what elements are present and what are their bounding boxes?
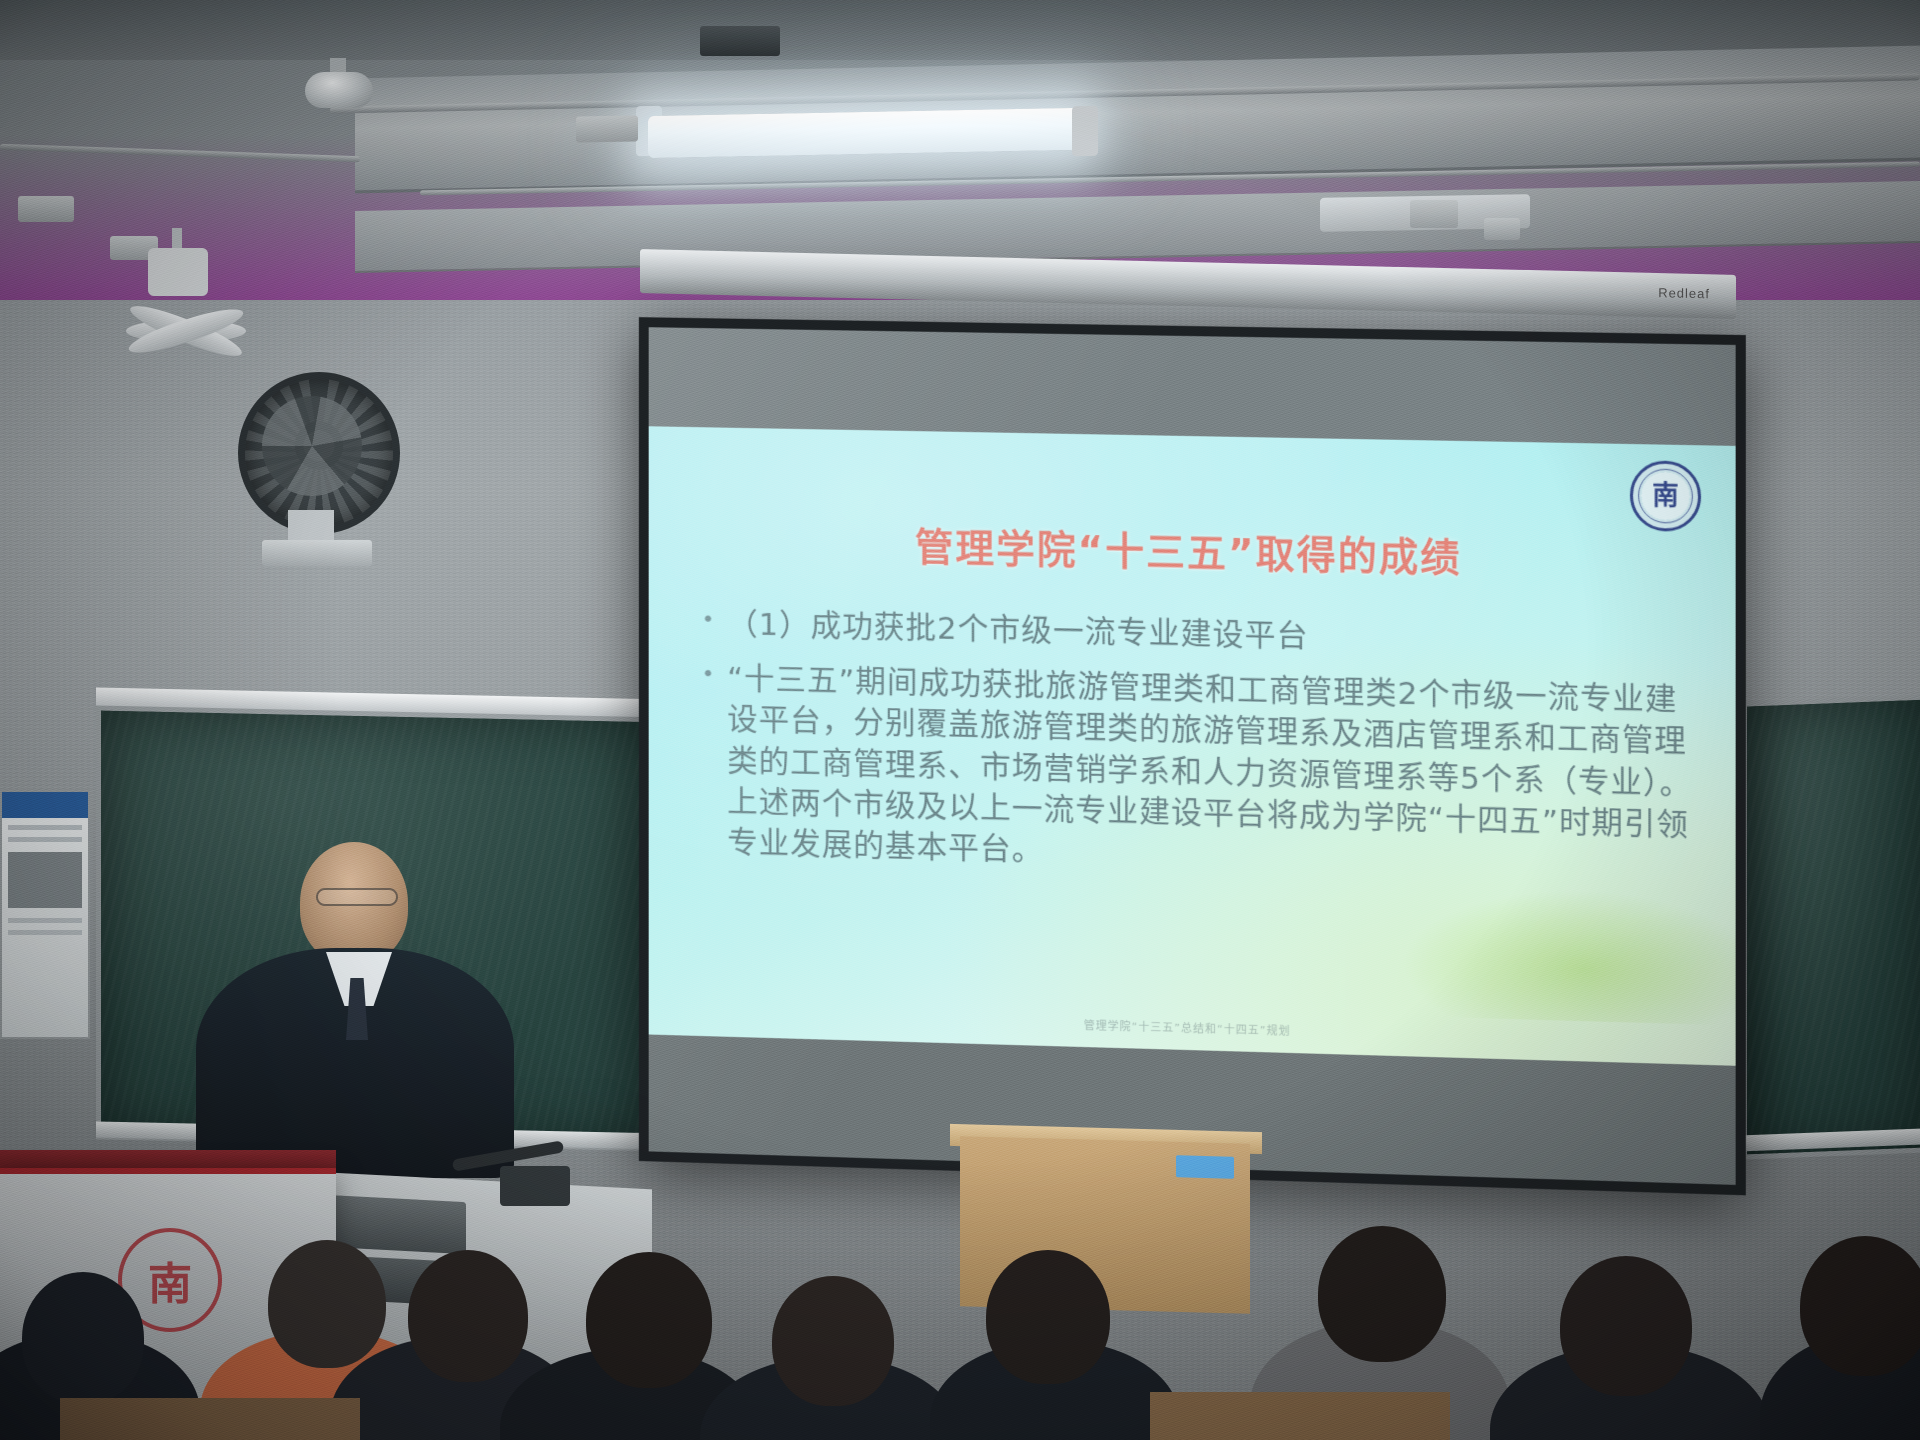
logo-ring xyxy=(1638,468,1693,523)
wall-fan-blades xyxy=(262,396,362,496)
presenter-glasses-icon xyxy=(316,888,398,906)
screen-brand-label: Redleaf xyxy=(1658,285,1710,301)
wall-junction-box xyxy=(1410,200,1458,228)
light-end-cap-right xyxy=(1072,106,1098,156)
university-logo-icon: 南 xyxy=(1630,460,1701,532)
audience-head xyxy=(1318,1226,1446,1362)
poster-line xyxy=(8,918,82,923)
audience-head xyxy=(1800,1236,1920,1376)
slide-decorative-blob xyxy=(1402,886,1736,1027)
slide-body: • （1）成功获批2个市级一流专业建设平台 • “十三五”期间成功获批旅游管理类… xyxy=(702,604,1695,889)
fluorescent-tube-light xyxy=(648,108,1078,158)
poster-header xyxy=(2,792,88,818)
slide-bullet-2-text: “十三五”期间成功获批旅游管理类和工商管理类2个市级一流专业建设平台，分别覆盖旅… xyxy=(727,659,1695,888)
wall-junction-box-2 xyxy=(1484,218,1520,240)
classroom-photo: Redleaf 南 管理学院“十三五”取得的成绩 • （1）成功获批2个市级一流… xyxy=(0,0,1920,1440)
slide-title: 管理学院“十三五”取得的成绩 xyxy=(649,511,1736,589)
seat-back xyxy=(1150,1392,1450,1440)
screen-letterbox-top xyxy=(649,327,1736,446)
slide-bullet-2: • “十三五”期间成功获批旅游管理类和工商管理类2个市级一流专业建设平台，分别覆… xyxy=(702,658,1695,888)
audience-head xyxy=(22,1272,144,1404)
dome-camera-icon xyxy=(305,72,373,108)
projection-screen: 南 管理学院“十三五”取得的成绩 • （1）成功获批2个市级一流专业建设平台 •… xyxy=(639,317,1746,1195)
slide-bullet-1-text: （1）成功获批2个市级一流专业建设平台 xyxy=(727,604,1695,666)
blackboard-texture xyxy=(1747,700,1920,1155)
poster-image xyxy=(8,852,82,908)
blackboard-right xyxy=(1742,694,1920,1159)
bullet-marker-icon: • xyxy=(702,658,716,691)
desk-label-badge xyxy=(1176,1155,1234,1179)
audience-head xyxy=(1560,1256,1692,1396)
audience-head xyxy=(408,1250,528,1382)
slide-bullet-1: • （1）成功获批2个市级一流专业建设平台 xyxy=(702,604,1695,667)
presentation-slide: 南 管理学院“十三五”取得的成绩 • （1）成功获批2个市级一流专业建设平台 •… xyxy=(649,426,1736,1066)
poster-line xyxy=(8,825,82,830)
poster-line xyxy=(8,837,82,842)
ceiling-mount-box xyxy=(700,26,780,56)
audience-head xyxy=(986,1250,1110,1384)
projection-screen-surface: 南 管理学院“十三五”取得的成绩 • （1）成功获批2个市级一流专业建设平台 •… xyxy=(649,327,1736,1185)
ceiling-fan-icon xyxy=(100,280,280,376)
audience-head xyxy=(772,1276,894,1406)
wall-junction-box-3 xyxy=(18,196,74,222)
microphone-base xyxy=(500,1166,570,1206)
wall-poster xyxy=(0,790,90,1039)
poster-line xyxy=(8,930,82,935)
junction-box xyxy=(576,115,638,142)
wall-shelf xyxy=(262,540,372,566)
audience-head xyxy=(268,1240,386,1368)
audience-head xyxy=(586,1252,712,1388)
seat-back xyxy=(60,1398,360,1440)
bullet-marker-icon: • xyxy=(702,604,716,637)
